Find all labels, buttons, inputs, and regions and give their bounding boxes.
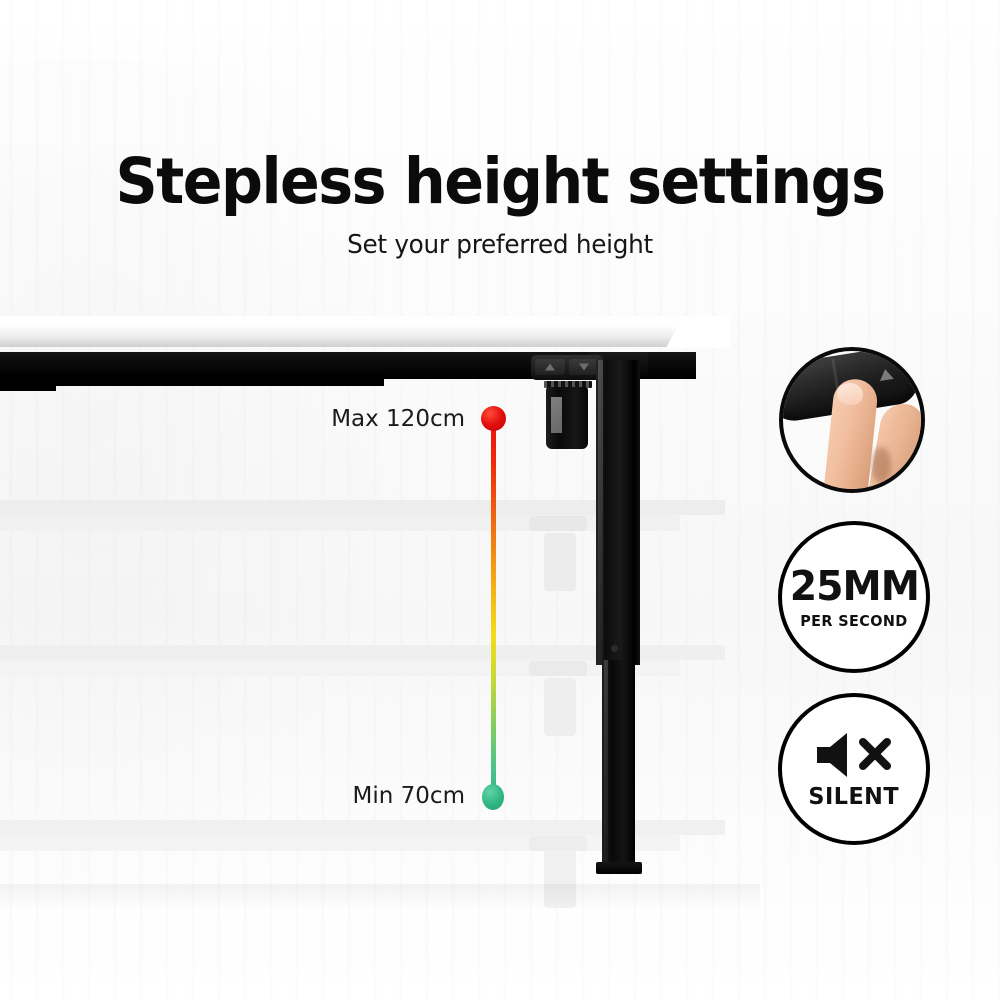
badge-silent-operation: SILENT	[778, 693, 930, 845]
lower-button[interactable]	[569, 359, 599, 375]
page-subtitle: Set your preferred height	[25, 230, 975, 260]
ghost-control-pad	[529, 661, 587, 676]
desk-control-pad[interactable]	[531, 355, 603, 380]
raise-button[interactable]	[535, 359, 565, 375]
chevron-up-icon	[545, 364, 555, 371]
floor-shadow	[0, 884, 760, 908]
finger-shadow	[871, 447, 891, 483]
headline-block: Stepless height settings Set your prefer…	[0, 150, 1000, 260]
handset-up-arrow-icon	[878, 368, 894, 381]
min-height-marker-dot	[482, 784, 504, 810]
leg-column-upper-highlight	[598, 360, 603, 665]
ghost-control-pad	[529, 516, 587, 531]
max-height-marker-dot	[481, 406, 506, 431]
badge-lift-speed: 25MM PER SECOND	[778, 521, 930, 673]
leg-bolt	[611, 645, 618, 652]
finger-press-handset-icon	[783, 351, 921, 489]
product-banner: Stepless height settings Set your prefer…	[0, 0, 1000, 1000]
leg-column-lower-highlight	[604, 660, 608, 872]
ghost-motor	[544, 533, 576, 591]
min-height-label: Min 70cm	[180, 783, 465, 809]
speed-value: 25MM	[789, 566, 918, 607]
desk-frame-beam-lower	[0, 374, 384, 386]
silent-label: SILENT	[809, 786, 900, 809]
ghost-motor	[544, 678, 576, 736]
height-gradient-line	[491, 418, 496, 800]
chevron-down-icon	[579, 364, 589, 371]
speed-unit: PER SECOND	[800, 614, 907, 629]
desk-tabletop-bevel	[612, 316, 730, 348]
leg-foot	[596, 862, 642, 874]
max-height-label: Max 120cm	[180, 406, 465, 432]
page-title: Stepless height settings	[35, 150, 965, 214]
ghost-control-pad	[529, 836, 587, 851]
badge-one-touch-control	[779, 347, 925, 493]
desk-frame-left-end	[0, 374, 56, 391]
motor-label	[551, 397, 562, 433]
muted-speaker-icon	[813, 730, 895, 780]
